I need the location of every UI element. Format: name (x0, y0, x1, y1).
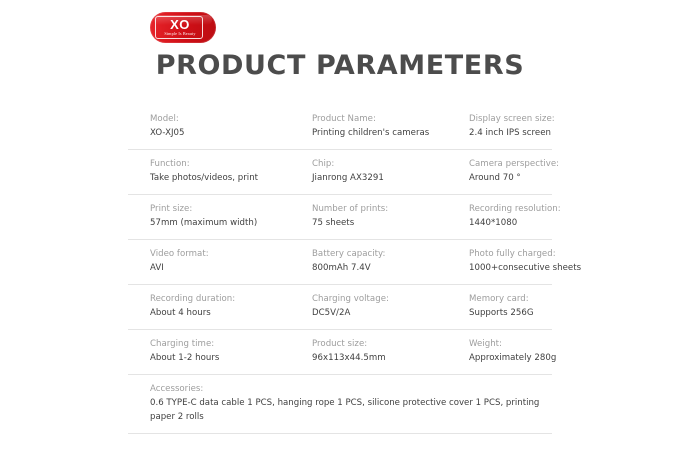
spec-table: Model: XO-XJ05 Product Name: Printing ch… (128, 107, 552, 434)
spec-cell: Memory card: Supports 256G (447, 293, 552, 320)
spec-cell: Charging voltage: DC5V/2A (290, 293, 447, 320)
spec-value: 96x113x44.5mm (312, 351, 447, 365)
spec-value: 1000+consecutive sheets (469, 261, 552, 275)
spec-value: 57mm (maximum width) (150, 216, 290, 230)
logo-inner-frame: XO Simple Is Beauty (155, 16, 203, 39)
page-title: PRODUCT PARAMETERS (0, 50, 680, 82)
accessories-label: Accessories: (150, 383, 542, 396)
spec-value: Take photos/videos, print (150, 171, 290, 185)
spec-label: Photo fully charged: (469, 248, 552, 261)
xo-brand-logo: XO Simple Is Beauty (150, 12, 216, 43)
product-parameters-page: XO Simple Is Beauty PRODUCT PARAMETERS M… (0, 0, 680, 450)
logo-tagline: Simple Is Beauty (156, 31, 204, 37)
spec-cell: Weight: Approximately 280g (447, 338, 552, 365)
spec-value: Printing children's cameras (312, 126, 447, 140)
spec-value: Supports 256G (469, 306, 552, 320)
spec-label: Charging time: (150, 338, 290, 351)
spec-cell: Photo fully charged: 1000+consecutive sh… (447, 248, 552, 275)
logo-pill-shape: XO Simple Is Beauty (150, 12, 216, 43)
table-row: Model: XO-XJ05 Product Name: Printing ch… (128, 107, 552, 149)
spec-value: AVI (150, 261, 290, 275)
spec-label: Battery capacity: (312, 248, 447, 261)
table-row: Function: Take photos/videos, print Chip… (128, 149, 552, 194)
accessories-value: 0.6 TYPE-C data cable 1 PCS, hanging rop… (150, 396, 540, 424)
accessories-row: Accessories: 0.6 TYPE-C data cable 1 PCS… (128, 374, 552, 434)
spec-label: Recording resolution: (469, 203, 552, 216)
table-row: Recording duration: About 4 hours Chargi… (128, 284, 552, 329)
spec-label: Function: (150, 158, 290, 171)
spec-label: Display screen size: (469, 113, 552, 126)
spec-value: XO-XJ05 (150, 126, 290, 140)
spec-label: Memory card: (469, 293, 552, 306)
spec-cell: Print size: 57mm (maximum width) (128, 203, 290, 230)
spec-value: 75 sheets (312, 216, 447, 230)
spec-cell: Charging time: About 1-2 hours (128, 338, 290, 365)
spec-label: Camera perspective: (469, 158, 552, 171)
spec-value: About 1-2 hours (150, 351, 290, 365)
spec-value: Jianrong AX3291 (312, 171, 447, 185)
table-row: Charging time: About 1-2 hours Product s… (128, 329, 552, 374)
spec-label: Chip: (312, 158, 447, 171)
spec-cell: Display screen size: 2.4 inch IPS screen (447, 113, 552, 140)
spec-value: 2.4 inch IPS screen (469, 126, 552, 140)
spec-label: Product size: (312, 338, 447, 351)
spec-value: 1440*1080 (469, 216, 552, 230)
logo-wordmark: XO (156, 18, 204, 31)
spec-cell: Chip: Jianrong AX3291 (290, 158, 447, 185)
spec-cell: Number of prints: 75 sheets (290, 203, 447, 230)
table-row: Print size: 57mm (maximum width) Number … (128, 194, 552, 239)
spec-value: About 4 hours (150, 306, 290, 320)
spec-cell: Model: XO-XJ05 (128, 113, 290, 140)
spec-cell: Camera perspective: Around 70 ° (447, 158, 552, 185)
spec-label: Print size: (150, 203, 290, 216)
spec-value: Around 70 ° (469, 171, 552, 185)
spec-cell: Product Name: Printing children's camera… (290, 113, 447, 140)
spec-cell: Recording resolution: 1440*1080 (447, 203, 552, 230)
accessories-cell: Accessories: 0.6 TYPE-C data cable 1 PCS… (128, 383, 552, 424)
spec-value: DC5V/2A (312, 306, 447, 320)
spec-label: Recording duration: (150, 293, 290, 306)
spec-label: Video format: (150, 248, 290, 261)
spec-cell: Recording duration: About 4 hours (128, 293, 290, 320)
spec-cell: Product size: 96x113x44.5mm (290, 338, 447, 365)
spec-value: 800mAh 7.4V (312, 261, 447, 275)
spec-label: Product Name: (312, 113, 447, 126)
table-row: Video format: AVI Battery capacity: 800m… (128, 239, 552, 284)
spec-value: Approximately 280g (469, 351, 552, 365)
spec-label: Charging voltage: (312, 293, 447, 306)
spec-label: Weight: (469, 338, 552, 351)
spec-label: Model: (150, 113, 290, 126)
spec-cell: Battery capacity: 800mAh 7.4V (290, 248, 447, 275)
spec-cell: Video format: AVI (128, 248, 290, 275)
spec-label: Number of prints: (312, 203, 447, 216)
spec-cell: Function: Take photos/videos, print (128, 158, 290, 185)
